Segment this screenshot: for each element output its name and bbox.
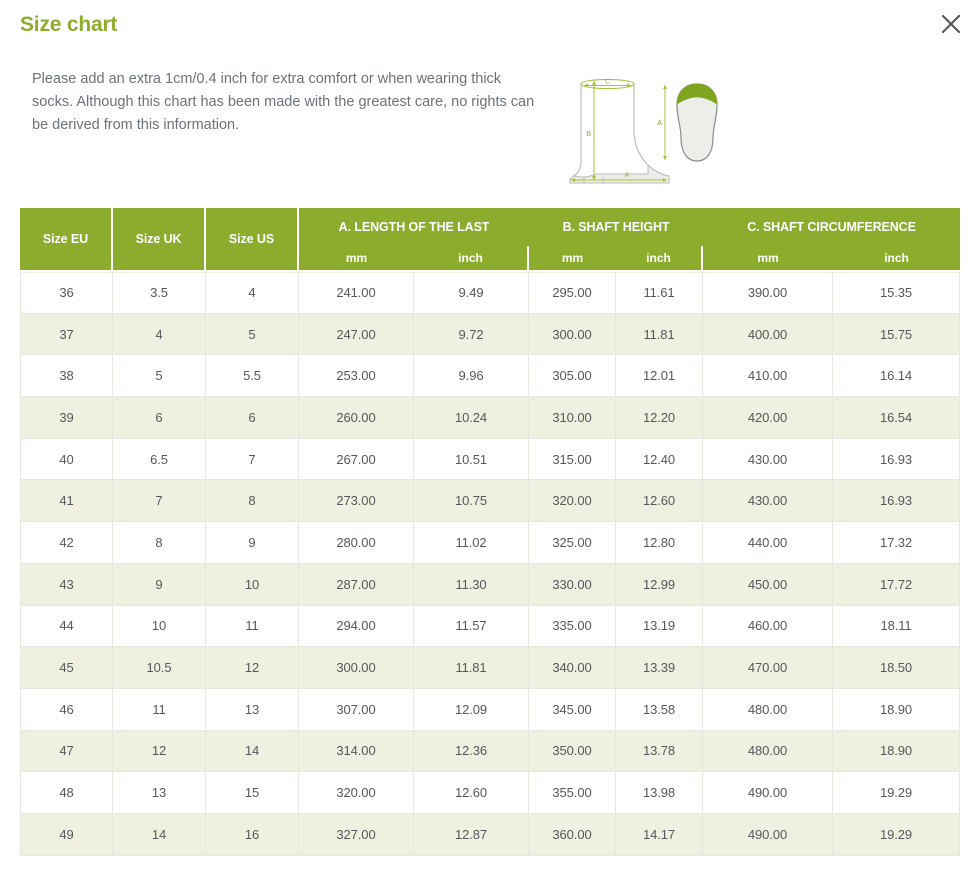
table-cell: 18.11 [833, 606, 960, 648]
table-cell: 16.93 [833, 480, 960, 522]
illustration-label-a-sole: A [657, 120, 662, 127]
table-cell: 10 [113, 606, 206, 648]
table-cell: 300.00 [299, 647, 414, 689]
table-cell: 11 [113, 689, 206, 731]
table-cell: 48 [20, 772, 113, 814]
table-cell: 5 [206, 314, 299, 356]
table-cell: 310.00 [529, 397, 616, 439]
table-cell: 287.00 [299, 564, 414, 606]
table-cell: 315.00 [529, 439, 616, 481]
table-row: 471214314.0012.36350.0013.78480.0018.90 [20, 731, 960, 773]
table-cell: 9 [206, 522, 299, 564]
table-cell: 10.75 [414, 480, 529, 522]
table-cell: 15.35 [833, 272, 960, 314]
table-row: 461113307.0012.09345.0013.58480.0018.90 [20, 689, 960, 731]
table-cell: 12.60 [616, 480, 703, 522]
table-cell: 11.30 [414, 564, 529, 606]
table-cell: 8 [206, 480, 299, 522]
table-cell: 12.99 [616, 564, 703, 606]
size-chart-table: Size EU Size UK Size US A. LENGTH OF THE… [20, 208, 960, 856]
table-cell: 12.80 [616, 522, 703, 564]
column-header-height-inch: inch [616, 246, 703, 272]
table-cell: 37 [20, 314, 113, 356]
intro-paragraph: Please add an extra 1cm/0.4 inch for ext… [32, 68, 540, 137]
column-header-length-of-the-last: A. LENGTH OF THE LAST [299, 208, 529, 246]
illustration-container: C B A A [540, 62, 960, 197]
table-cell: 18.50 [833, 647, 960, 689]
table-cell: 11.81 [616, 314, 703, 356]
table-cell: 46 [20, 689, 113, 731]
table-header-group-row: Size EU Size UK Size US A. LENGTH OF THE… [20, 208, 960, 246]
illustration-label-a: A [625, 172, 630, 179]
table-cell: 18.90 [833, 731, 960, 773]
rain-boot-measurement-diagram-icon: C B A A [550, 64, 740, 197]
table-cell: 12.01 [616, 355, 703, 397]
column-header-circumference-inch: inch [833, 246, 960, 272]
column-header-length-mm: mm [299, 246, 414, 272]
modal-header: Size chart [0, 0, 980, 48]
column-header-height-mm: mm [529, 246, 616, 272]
table-cell: 350.00 [529, 731, 616, 773]
table-cell: 470.00 [703, 647, 833, 689]
table-cell: 253.00 [299, 355, 414, 397]
table-cell: 330.00 [529, 564, 616, 606]
table-cell: 40 [20, 439, 113, 481]
table-cell: 11 [206, 606, 299, 648]
table-cell: 440.00 [703, 522, 833, 564]
table-cell: 15.75 [833, 314, 960, 356]
table-cell: 12.09 [414, 689, 529, 731]
table-cell: 12 [113, 731, 206, 773]
table-cell: 320.00 [299, 772, 414, 814]
table-cell: 39 [20, 397, 113, 439]
table-cell: 17.32 [833, 522, 960, 564]
table-cell: 305.00 [529, 355, 616, 397]
table-cell: 14.17 [616, 814, 703, 856]
table-row: 406.57267.0010.51315.0012.40430.0016.93 [20, 439, 960, 481]
table-cell: 13.19 [616, 606, 703, 648]
table-row: 43910287.0011.30330.0012.99450.0017.72 [20, 564, 960, 606]
table-cell: 360.00 [529, 814, 616, 856]
table-cell: 7 [113, 480, 206, 522]
table-cell: 260.00 [299, 397, 414, 439]
illustration-label-c: C [605, 79, 610, 86]
table-cell: 300.00 [529, 314, 616, 356]
table-cell: 340.00 [529, 647, 616, 689]
table-cell: 12.87 [414, 814, 529, 856]
table-cell: 8 [113, 522, 206, 564]
table-cell: 11.57 [414, 606, 529, 648]
table-cell: 41 [20, 480, 113, 522]
table-cell: 6.5 [113, 439, 206, 481]
table-cell: 480.00 [703, 731, 833, 773]
table-cell: 460.00 [703, 606, 833, 648]
table-cell: 11.61 [616, 272, 703, 314]
table-row: 441011294.0011.57335.0013.19460.0018.11 [20, 606, 960, 648]
table-cell: 9.96 [414, 355, 529, 397]
table-cell: 3.5 [113, 272, 206, 314]
table-row: 3745247.009.72300.0011.81400.0015.75 [20, 314, 960, 356]
table-cell: 295.00 [529, 272, 616, 314]
table-row: 3855.5253.009.96305.0012.01410.0016.14 [20, 355, 960, 397]
table-cell: 45 [20, 647, 113, 689]
column-header-shaft-circumference: C. SHAFT CIRCUMFERENCE [703, 208, 960, 246]
table-cell: 36 [20, 272, 113, 314]
table-cell: 49 [20, 814, 113, 856]
table-cell: 14 [206, 731, 299, 773]
table-cell: 7 [206, 439, 299, 481]
table-cell: 13.39 [616, 647, 703, 689]
illustration-label-b: B [586, 131, 591, 138]
table-cell: 9.49 [414, 272, 529, 314]
column-header-size-uk: Size UK [113, 208, 206, 272]
column-header-shaft-height: B. SHAFT HEIGHT [529, 208, 703, 246]
table-cell: 13 [113, 772, 206, 814]
table-row: 4289280.0011.02325.0012.80440.0017.32 [20, 522, 960, 564]
table-cell: 480.00 [703, 689, 833, 731]
table-cell: 10.51 [414, 439, 529, 481]
table-cell: 12.60 [414, 772, 529, 814]
table-cell: 5 [113, 355, 206, 397]
table-cell: 490.00 [703, 772, 833, 814]
table-cell: 247.00 [299, 314, 414, 356]
table-cell: 314.00 [299, 731, 414, 773]
column-header-size-us: Size US [206, 208, 299, 272]
table-cell: 6 [113, 397, 206, 439]
page-title: Size chart [20, 12, 960, 38]
table-cell: 42 [20, 522, 113, 564]
table-cell: 355.00 [529, 772, 616, 814]
table-cell: 4 [113, 314, 206, 356]
intro-paragraph-block: Please add an extra 1cm/0.4 inch for ext… [20, 62, 540, 137]
table-cell: 38 [20, 355, 113, 397]
table-row: 363.54241.009.49295.0011.61390.0015.35 [20, 272, 960, 314]
table-cell: 294.00 [299, 606, 414, 648]
table-cell: 12.40 [616, 439, 703, 481]
table-cell: 335.00 [529, 606, 616, 648]
table-cell: 9 [113, 564, 206, 606]
table-cell: 400.00 [703, 314, 833, 356]
table-row: 4178273.0010.75320.0012.60430.0016.93 [20, 480, 960, 522]
table-cell: 267.00 [299, 439, 414, 481]
table-cell: 280.00 [299, 522, 414, 564]
table-cell: 11.02 [414, 522, 529, 564]
table-cell: 345.00 [529, 689, 616, 731]
table-cell: 14 [113, 814, 206, 856]
size-chart-table-wrap: Size EU Size UK Size US A. LENGTH OF THE… [0, 208, 980, 856]
table-cell: 490.00 [703, 814, 833, 856]
table-row: 481315320.0012.60355.0013.98490.0019.29 [20, 772, 960, 814]
table-cell: 320.00 [529, 480, 616, 522]
table-cell: 410.00 [703, 355, 833, 397]
table-cell: 18.90 [833, 689, 960, 731]
table-cell: 390.00 [703, 272, 833, 314]
table-cell: 47 [20, 731, 113, 773]
table-body: 363.54241.009.49295.0011.61390.0015.3537… [20, 272, 960, 856]
table-cell: 9.72 [414, 314, 529, 356]
table-cell: 241.00 [299, 272, 414, 314]
column-header-length-inch: inch [414, 246, 529, 272]
table-cell: 430.00 [703, 439, 833, 481]
table-cell: 12 [206, 647, 299, 689]
close-button[interactable] [934, 7, 968, 41]
table-row: 491416327.0012.87360.0014.17490.0019.29 [20, 814, 960, 856]
table-cell: 19.29 [833, 814, 960, 856]
table-cell: 12.36 [414, 731, 529, 773]
table-cell: 10 [206, 564, 299, 606]
table-cell: 420.00 [703, 397, 833, 439]
table-cell: 16 [206, 814, 299, 856]
table-cell: 12.20 [616, 397, 703, 439]
close-icon [940, 13, 962, 35]
table-cell: 10.5 [113, 647, 206, 689]
table-cell: 13 [206, 689, 299, 731]
intro-section: Please add an extra 1cm/0.4 inch for ext… [0, 48, 980, 208]
table-cell: 6 [206, 397, 299, 439]
table-cell: 16.54 [833, 397, 960, 439]
table-cell: 4 [206, 272, 299, 314]
table-cell: 450.00 [703, 564, 833, 606]
table-cell: 325.00 [529, 522, 616, 564]
column-header-size-eu: Size EU [20, 208, 113, 272]
table-cell: 10.24 [414, 397, 529, 439]
table-cell: 430.00 [703, 480, 833, 522]
table-cell: 13.98 [616, 772, 703, 814]
table-row: 4510.512300.0011.81340.0013.39470.0018.5… [20, 647, 960, 689]
table-cell: 13.58 [616, 689, 703, 731]
table-cell: 327.00 [299, 814, 414, 856]
table-cell: 17.72 [833, 564, 960, 606]
table-cell: 16.14 [833, 355, 960, 397]
table-cell: 273.00 [299, 480, 414, 522]
column-header-circumference-mm: mm [703, 246, 833, 272]
table-cell: 11.81 [414, 647, 529, 689]
table-cell: 5.5 [206, 355, 299, 397]
table-cell: 19.29 [833, 772, 960, 814]
table-row: 3966260.0010.24310.0012.20420.0016.54 [20, 397, 960, 439]
table-cell: 307.00 [299, 689, 414, 731]
table-cell: 44 [20, 606, 113, 648]
table-cell: 15 [206, 772, 299, 814]
table-head: Size EU Size UK Size US A. LENGTH OF THE… [20, 208, 960, 272]
table-cell: 43 [20, 564, 113, 606]
table-cell: 13.78 [616, 731, 703, 773]
table-cell: 16.93 [833, 439, 960, 481]
